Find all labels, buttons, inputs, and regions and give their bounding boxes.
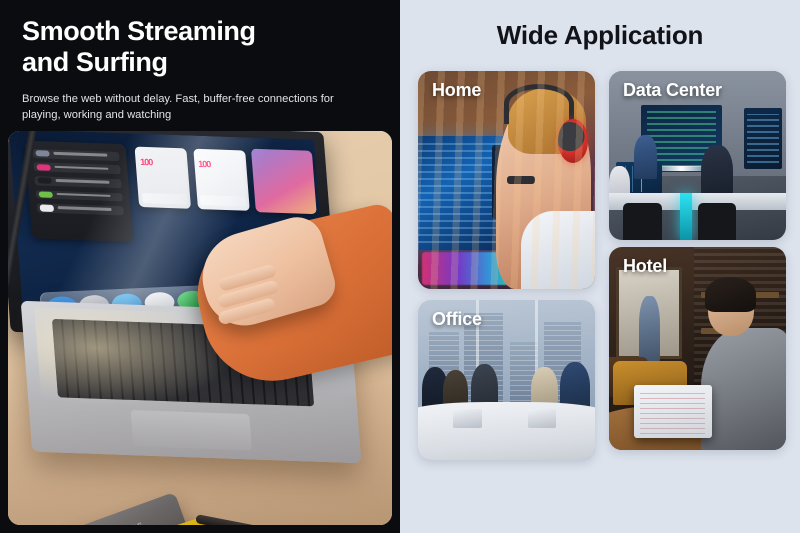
headset-earcup-icon <box>558 119 588 163</box>
page-title: Smooth Streaming and Surfing <box>22 16 378 78</box>
background-person <box>639 296 660 365</box>
application-card-office[interactable]: Office <box>418 300 595 460</box>
wide-application-title: Wide Application <box>400 0 800 51</box>
businessman-hair <box>705 277 756 312</box>
right-application-panel: Wide Application Home <box>400 0 800 533</box>
conference-table <box>418 402 595 460</box>
card-label-hotel: Hotel <box>623 256 667 277</box>
left-panel-header: Smooth Streaming and Surfing Browse the … <box>0 0 400 123</box>
hotel-scene <box>609 247 786 450</box>
desk-shadow <box>8 344 392 525</box>
card-label-home: Home <box>432 80 481 101</box>
gamer-shirt <box>521 211 595 289</box>
subtitle-text: Browse the web without delay. Fast, buff… <box>22 91 352 123</box>
cyan-light-column <box>680 193 692 240</box>
headline-line-2: and Surfing <box>22 47 168 77</box>
gaming-monitor <box>418 136 510 249</box>
headline-line-1: Smooth Streaming <box>22 16 256 46</box>
card-label-office: Office <box>432 309 482 330</box>
businessman-suit <box>701 328 786 450</box>
application-card-home[interactable]: Home <box>418 71 595 289</box>
hotel-laptop <box>634 385 712 438</box>
product-marketing-banner: Smooth Streaming and Surfing Browse the … <box>0 0 800 533</box>
meeting-laptop-2 <box>528 409 556 428</box>
card-label-data-center: Data Center <box>623 80 722 101</box>
left-product-photo: 100 100 <box>8 131 392 525</box>
application-card-hotel[interactable]: Hotel <box>609 247 786 450</box>
left-feature-panel: Smooth Streaming and Surfing Browse the … <box>0 0 400 533</box>
application-card-data-center[interactable]: Data Center <box>609 71 786 240</box>
secondary-monitor <box>492 145 540 219</box>
headset-band-icon <box>504 84 574 124</box>
meeting-laptop-1 <box>453 409 481 428</box>
wall-display-side <box>744 108 783 169</box>
headset-mic-icon <box>507 176 535 185</box>
gamer-hair <box>508 88 586 153</box>
office-chair-left <box>623 203 662 240</box>
home-scene <box>418 71 595 289</box>
gamer-face <box>496 93 592 289</box>
office-chair-right <box>698 203 737 240</box>
rgb-keyboard <box>422 252 542 285</box>
operator-standing <box>634 135 657 179</box>
